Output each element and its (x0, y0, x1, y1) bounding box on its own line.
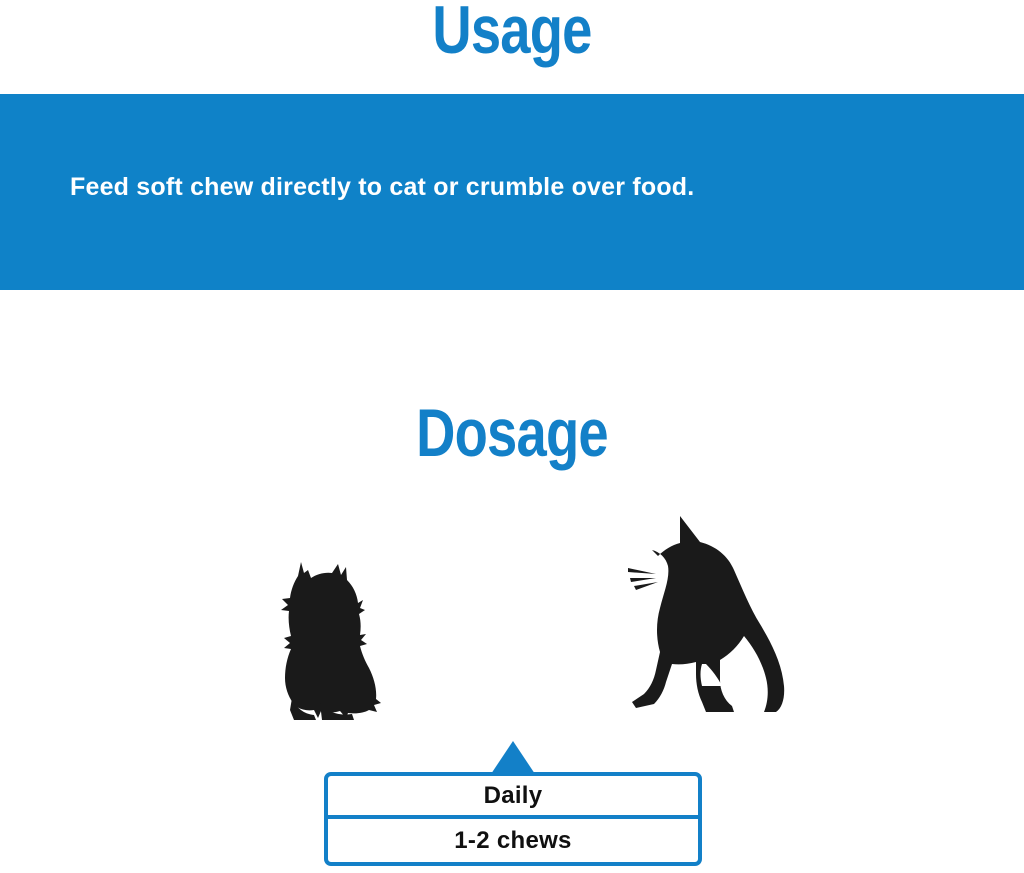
dosage-row-frequency: Daily (328, 776, 698, 819)
usage-instruction-text: Feed soft chew directly to cat or crumbl… (70, 172, 694, 202)
usage-dosage-panel: Usage Feed soft chew directly to cat or … (0, 0, 1024, 873)
dosage-table: Daily 1-2 chews (324, 772, 702, 866)
usage-heading: Usage (102, 0, 921, 64)
usage-banner: Feed soft chew directly to cat or crumbl… (0, 94, 1024, 290)
dosage-row-amount: 1-2 chews (328, 819, 698, 862)
dosage-heading: Dosage (102, 399, 921, 467)
pointer-triangle-icon (491, 741, 535, 774)
kitten-silhouette-icon (268, 558, 388, 720)
adult-cat-silhouette-icon (614, 512, 794, 720)
